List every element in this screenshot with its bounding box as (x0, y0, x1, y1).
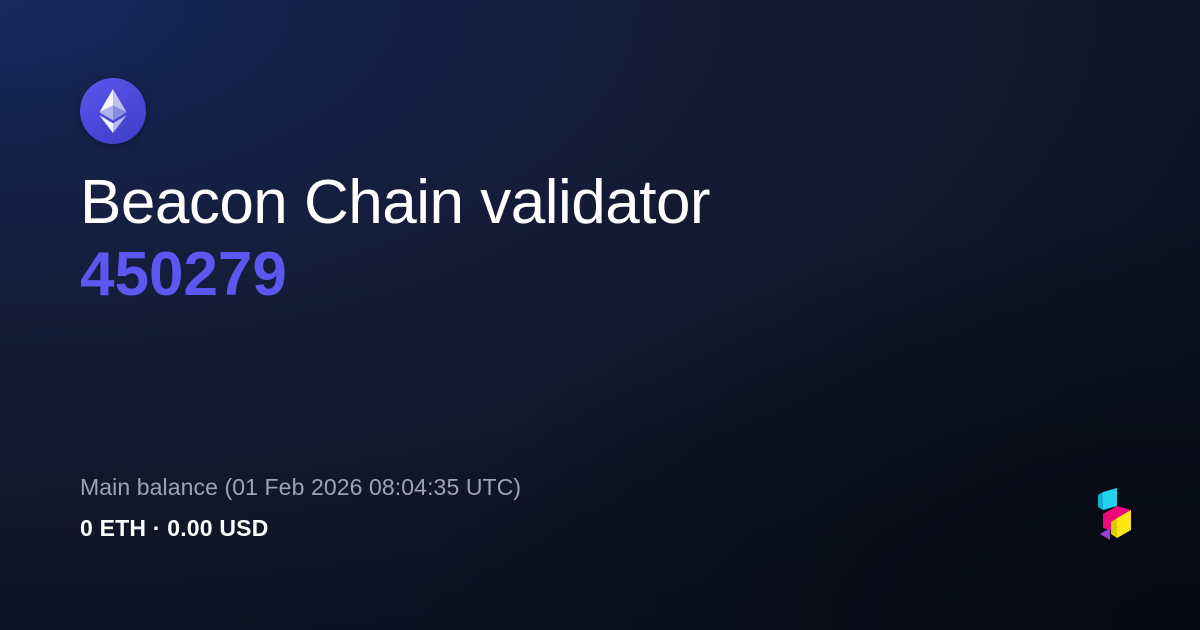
balance-value: 0 ETH · 0.00 USD (80, 515, 521, 542)
ethereum-logo-icon (80, 78, 146, 144)
balance-label: Main balance (01 Feb 2026 08:04:35 UTC) (80, 474, 521, 501)
page-title: Beacon Chain validator (80, 170, 1120, 236)
beaconchain-logo-icon (1094, 486, 1138, 552)
validator-index: 450279 (80, 242, 1120, 308)
og-social-card: Beacon Chain validator 450279 Main balan… (0, 0, 1200, 630)
balance-block: Main balance (01 Feb 2026 08:04:35 UTC) … (80, 474, 521, 542)
card-content: Beacon Chain validator 450279 (0, 0, 1200, 307)
